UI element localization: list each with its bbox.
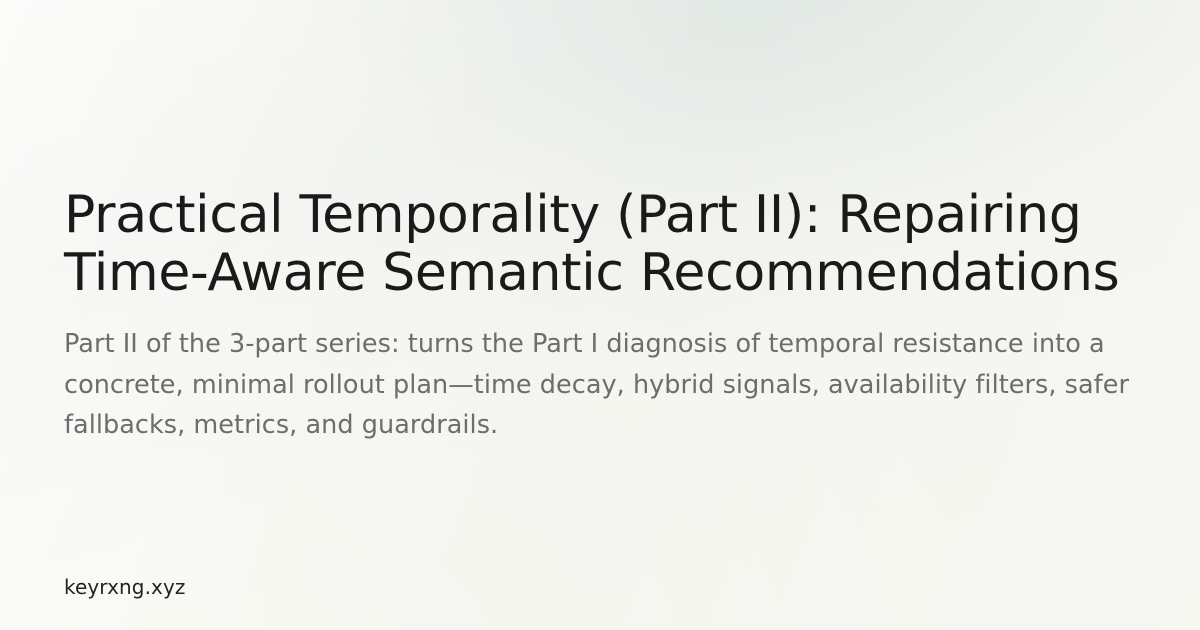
page-title: Practical Temporality (Part II): Repairi… bbox=[64, 186, 1124, 302]
page-description: Part II of the 3-part series: turns the … bbox=[64, 324, 1139, 445]
og-card: Practical Temporality (Part II): Repairi… bbox=[0, 0, 1200, 630]
site-domain-label: keyrxng.xyz bbox=[64, 574, 186, 600]
headline-block: Practical Temporality (Part II): Repairi… bbox=[64, 186, 1148, 445]
card-content: Practical Temporality (Part II): Repairi… bbox=[0, 0, 1200, 630]
